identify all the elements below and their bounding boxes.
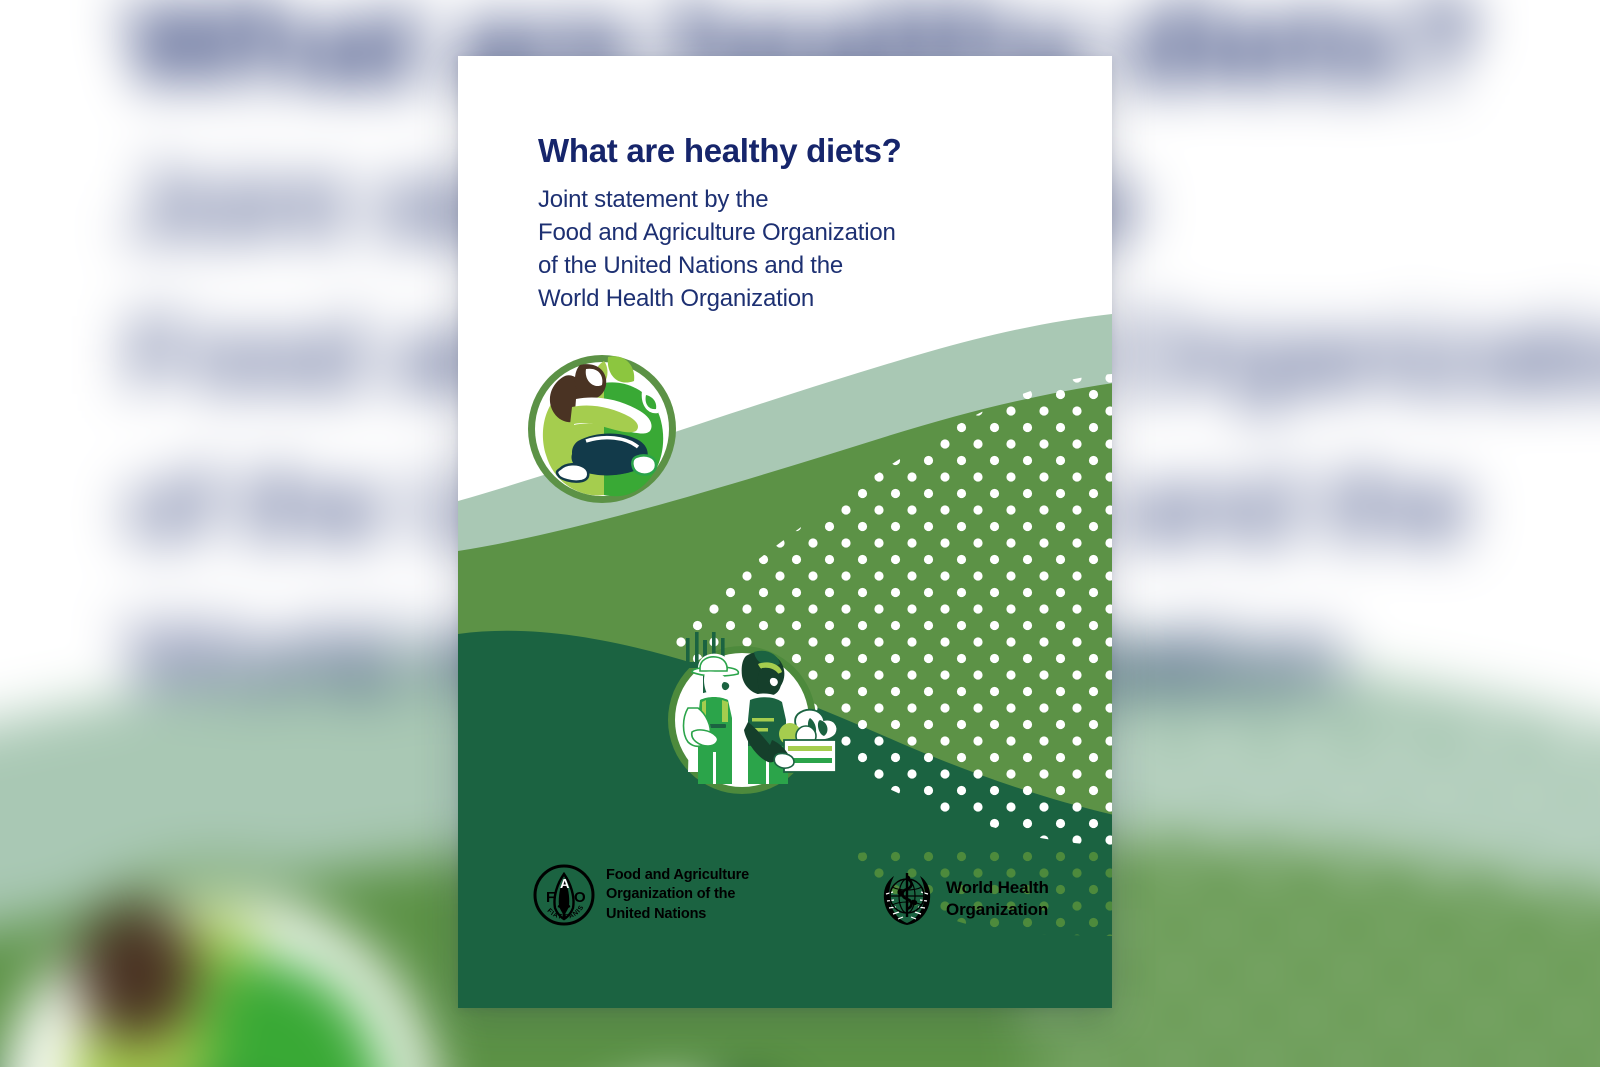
page-subtitle: Joint statement by the Food and Agricult… (538, 183, 1058, 315)
subtitle-line-2: Food and Agriculture Organization (538, 216, 1058, 249)
publication-cover-card[interactable]: What are healthy diets? Joint statement … (458, 56, 1112, 1008)
cover-footer-logos: F A O FIAT PANIS Food and Agriculture Or… (458, 864, 1112, 948)
woman-hugging-apple-illustration (516, 337, 688, 509)
fao-emblem-icon: F A O FIAT PANIS (533, 864, 595, 926)
fao-name-line-1: Food and Agriculture (606, 866, 749, 885)
who-name-line-1: World Health (946, 877, 1049, 899)
subtitle-line-3: of the United Nations and the (538, 249, 1058, 282)
who-name-line-2: Organization (946, 899, 1049, 921)
who-logo-text: World Health Organization (946, 877, 1049, 921)
page-title: What are healthy diets? (538, 131, 1058, 171)
svg-text:O: O (574, 889, 586, 906)
cover-title-block: What are healthy diets? Joint statement … (538, 131, 1058, 315)
who-emblem-icon (878, 870, 936, 928)
subtitle-line-1: Joint statement by the (538, 183, 1058, 216)
background-farmers-illustration (473, 1048, 901, 1067)
svg-text:F: F (546, 889, 555, 906)
fao-name-line-3: United Nations (606, 905, 749, 924)
background-apple-illustration (0, 814, 504, 1067)
farmers-with-produce-illustration (662, 622, 842, 808)
fao-logo: F A O FIAT PANIS Food and Agriculture Or… (533, 864, 749, 926)
svg-text:A: A (560, 876, 570, 891)
subtitle-line-4: World Health Organization (538, 282, 1058, 315)
who-logo: World Health Organization (878, 870, 1049, 928)
fao-logo-text: Food and Agriculture Organization of the… (606, 866, 749, 923)
fao-name-line-2: Organization of the (606, 885, 749, 904)
